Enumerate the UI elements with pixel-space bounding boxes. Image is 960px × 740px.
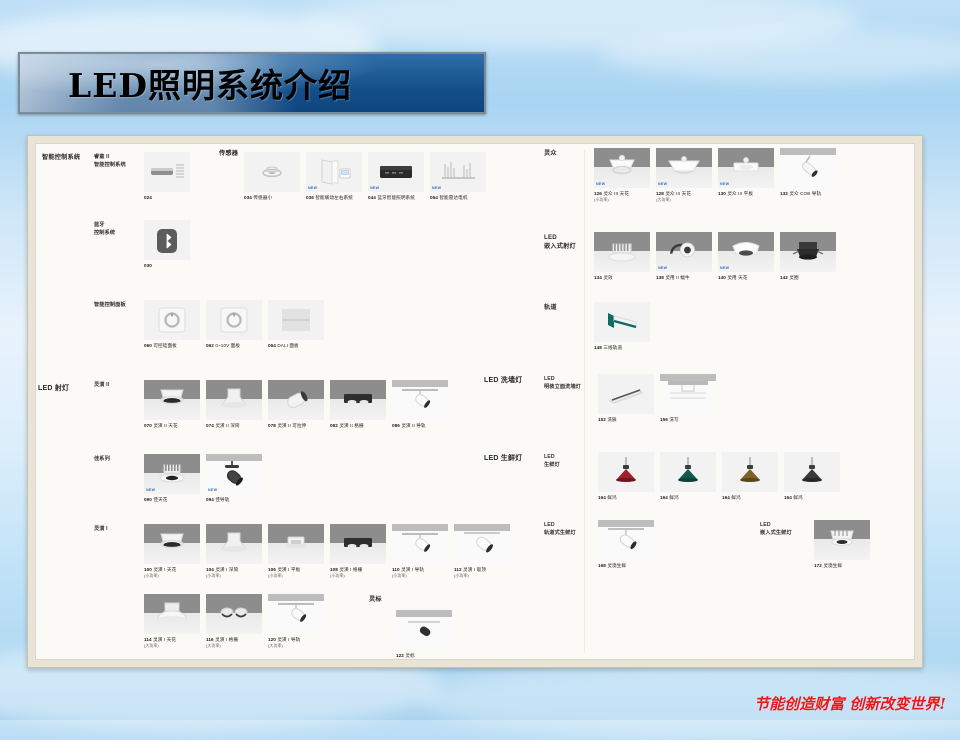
catalog-item-sublabel: (小功率)	[454, 573, 469, 578]
catalog-item-name: 鲜鸿	[669, 495, 678, 500]
catalog-item-name: 蓝牙智能照明系统	[377, 195, 415, 200]
catalog-item-caption: 164 鲜鸿	[722, 495, 778, 502]
catalog-item-caption: 148 三线轨道	[594, 345, 650, 352]
catalog-item-caption: 074 灵潢 II 深筒	[206, 423, 262, 430]
adjustable-spot-icon	[268, 380, 324, 420]
catalog-item-sublabel: (小功率)	[268, 573, 283, 578]
catalog-item-name: 鲜鸿	[793, 495, 802, 500]
catalog-item-sublabel: (大功率)	[144, 643, 159, 648]
deep-recessed-icon	[206, 524, 262, 564]
catalog-item: 134 灵效	[594, 232, 650, 281]
catalog-item-caption: 164 鲜鸿	[660, 495, 716, 502]
catalog-item-number: 156	[660, 417, 668, 422]
catalog-row: 152 洗辰156 洗写	[598, 374, 722, 423]
catalog-item-name: 灵潢 II 可拉伸	[277, 423, 306, 428]
group-title: LED 生鲜灯	[544, 454, 596, 469]
catalog-item-name: 灵潢 I 导轨	[401, 567, 424, 572]
catalog-item-caption: 126 灵众 III 天花(小功率)	[594, 191, 650, 205]
catalog-item-number: 134	[594, 275, 602, 280]
catalog-item: NEW140 灵用 天花	[718, 232, 774, 281]
catalog-item: 152 洗辰	[598, 374, 654, 423]
catalog-item: 120 灵潢 I 导轨(大功率)	[268, 594, 324, 650]
catalog-item-number: 100	[144, 567, 152, 572]
catalog-item-name: 传感器小	[253, 195, 272, 200]
catalog-item-sublabel: (小功率)	[594, 197, 609, 202]
door-sensor-icon: NEW	[306, 152, 362, 192]
catalog-item-name: 灵用 天花	[727, 275, 747, 280]
catalog-item-name: 智能联动左右系统	[315, 195, 353, 200]
catalog-item-caption: 070 灵潢 II 天花	[144, 423, 200, 430]
catalog-item-caption: 142 灵圈	[780, 275, 836, 282]
catalog-item: 156 洗写	[660, 374, 716, 423]
catalog-item-number: 126	[594, 191, 602, 196]
catalog-item-caption: 060 可控硅面板	[144, 343, 200, 350]
catalog-item-name: 灵潢 II 格栅	[339, 423, 363, 428]
catalog-item: 110 灵潢 I 导轨(小功率)	[392, 524, 448, 580]
catalog-item-caption: 130 灵众 III 平板	[718, 191, 774, 198]
catalog-item-name: 0~10V 面板	[215, 343, 240, 348]
catalog-item-number: 172	[814, 563, 822, 568]
catalog-item-caption: 134 灵效	[594, 275, 650, 282]
catalog-item-name: 灵潢 I 导轨	[277, 637, 300, 642]
catalog-item-number: 116	[206, 637, 214, 642]
catalog-item: 164 鲜鸿	[598, 452, 654, 501]
catalog-item-sublabel: (小功率)	[206, 573, 221, 578]
catalog-item-name: 灵潢 II 深筒	[215, 423, 239, 428]
catalog-item: NEW128 灵众 III 天花(大功率)	[656, 148, 712, 204]
page-title: LED照明系统介绍	[68, 59, 352, 107]
catalog-item-caption: 168 灵澳生鲜	[598, 563, 654, 570]
catalog-item-name: 灵澳生鲜	[823, 563, 842, 568]
catalog-item-number: 112	[454, 567, 462, 572]
cloud-decoration	[300, 0, 860, 50]
catalog-item-number: 110	[392, 567, 400, 572]
catalog-item-name: 佳导轨	[215, 497, 229, 502]
catalog-item-caption: 132 灵众 COB 导轨	[780, 191, 836, 198]
catalog-item-number: 164	[784, 495, 792, 500]
catalog-item-name: 灵众 COB 导轨	[789, 191, 821, 196]
catalog-item-number: 152	[598, 417, 606, 422]
section-title: LED 生鲜灯	[484, 454, 544, 464]
wall-washer-recessed-icon	[660, 374, 716, 414]
catalog-item: 148 三线轨道	[594, 302, 650, 351]
group-title: 灵潢 I	[94, 526, 142, 534]
lingzhong-wide-icon: NEW	[656, 148, 712, 188]
black-recessed-icon	[780, 232, 836, 272]
catalog-item-number: 132	[780, 191, 788, 196]
section-title: LED 洗墙灯	[484, 376, 544, 386]
catalog-item-caption: 030	[144, 263, 190, 270]
catalog-item: 168 灵澳生鲜	[598, 520, 654, 569]
catalog-right-column: 灵众NEW126 灵众 III 天花(小功率)NEW128 灵众 III 天花(…	[536, 144, 915, 659]
ceiling-sensor-icon	[244, 152, 300, 192]
catalog-row-sensors: 034 传感器小NEW036 智能联动左右系统NEW044 蓝牙智能照明系统NE…	[244, 152, 492, 201]
catalog-item-caption: 120 灵潢 I 导轨(大功率)	[268, 637, 324, 651]
wall-washer-linear-icon	[598, 374, 654, 414]
catalog-item-number: 086	[392, 423, 400, 428]
catalog-poster: 智能控制系统睿童 II 智能控制系统024 蓝牙 控制系统030 智能控制面板0…	[35, 143, 915, 660]
catalog-poster-frame: 智能控制系统睿童 II 智能控制系统024 蓝牙 控制系统030 智能控制面板0…	[27, 135, 923, 668]
catalog-row: 148 三线轨道	[594, 302, 656, 351]
catalog-row: 100 灵潢 I 天花(小功率)104 灵潢 I 深筒(小功率)106 灵潢 I…	[144, 524, 516, 580]
catalog-item-caption: 024	[144, 195, 190, 202]
catalog-item-sublabel: (小功率)	[144, 573, 159, 578]
catalog-item-name: 鲜鸿	[731, 495, 740, 500]
white-downlight-icon: NEW	[718, 232, 774, 272]
catalog-item-name: 灵圈	[789, 275, 798, 280]
catalog-item: NEW044 蓝牙智能照明系统	[368, 152, 424, 201]
radar-wave-icon: NEW	[430, 152, 486, 192]
cob-recessed-icon	[594, 232, 650, 272]
catalog-left-column: 智能控制系统睿童 II 智能控制系统024 蓝牙 控制系统030 智能控制面板0…	[36, 144, 536, 659]
lingzhong-flat-icon: NEW	[718, 148, 774, 188]
catalog-item: 106 灵潢 I 平板(小功率)	[268, 524, 324, 580]
controller-box-icon	[144, 152, 190, 192]
catalog-row: 030	[144, 220, 196, 269]
catalog-item-number: 128	[656, 191, 664, 196]
catalog-item-number: 064	[268, 343, 276, 348]
surface-spot-icon	[454, 524, 510, 564]
catalog-item-number: 070	[144, 423, 152, 428]
catalog-item-name: 灵潢 I 格栅	[339, 567, 362, 572]
catalog-item: 142 灵圈	[780, 232, 836, 281]
pendant-gold-icon	[722, 452, 778, 492]
catalog-item-caption: 110 灵潢 I 导轨(小功率)	[392, 567, 448, 581]
catalog-item-number: 114	[144, 637, 152, 642]
section-title-led-spotlight: LED 射灯	[38, 384, 69, 394]
catalog-item-caption: 152 洗辰	[598, 417, 654, 424]
catalog-item: NEW126 灵众 III 天花(小功率)	[594, 148, 650, 204]
track-fresh-icon	[598, 520, 654, 560]
recessed-downlight-icon	[144, 524, 200, 564]
catalog-item: 132 灵众 COB 导轨	[780, 148, 836, 197]
catalog-item-number: 062	[206, 343, 214, 348]
group-title: LED 嵌入式生鲜灯	[760, 522, 812, 537]
catalog-item-name: 洗辰	[607, 417, 616, 422]
catalog-item-caption: 114 灵潢 I 天花(大功率)	[144, 637, 200, 651]
catalog-item-caption: 082 灵潢 II 格栅	[330, 423, 386, 430]
section-title-sensor: 传感器	[219, 150, 238, 159]
catalog-item-name: 灵众 III 平板	[727, 191, 753, 196]
catalog-item-number: 122	[396, 653, 404, 658]
flat-panel-icon	[268, 300, 324, 340]
catalog-item-number: 164	[598, 495, 606, 500]
catalog-item-number: 090	[144, 497, 152, 502]
recessed-wide-icon	[144, 594, 200, 634]
dimmer-knob-panel-icon	[206, 300, 262, 340]
catalog-item-caption: 108 灵潢 I 格栅(小功率)	[330, 567, 386, 581]
catalog-item-caption: 164 鲜鸿	[784, 495, 840, 502]
catalog-row: 172 灵澳生鲜	[814, 520, 876, 569]
catalog-item-caption: 140 灵用 天花	[718, 275, 774, 282]
catalog-item: 114 灵潢 I 天花(大功率)	[144, 594, 200, 650]
catalog-item-number: 082	[330, 423, 338, 428]
catalog-item: NEW054 智能雷达电机	[430, 152, 486, 201]
catalog-item: 104 灵潢 I 深筒(小功率)	[206, 524, 262, 580]
catalog-item-sublabel: (大功率)	[656, 197, 671, 202]
catalog-item: 064 DALI 面板	[268, 300, 324, 349]
double-grille-icon	[206, 594, 262, 634]
catalog-item-caption: 034 传感器小	[244, 195, 300, 202]
catalog-item-name: 灵潢 I 吸顶	[463, 567, 486, 572]
catalog-item-name: 洗写	[669, 417, 678, 422]
catalog-item-sublabel: (大功率)	[206, 643, 221, 648]
catalog-item-number: 054	[430, 195, 438, 200]
catalog-item-number: 074	[206, 423, 214, 428]
catalog-item-caption: 156 洗写	[660, 417, 716, 424]
catalog-item: 074 灵潢 II 深筒	[206, 380, 262, 429]
catalog-item: 030	[144, 220, 190, 269]
catalog-item-number: 168	[598, 563, 606, 568]
catalog-item-name: 灵效	[603, 275, 612, 280]
group-title: 睿童 II 智能控制系统	[94, 154, 142, 169]
cloud-decoration	[600, 30, 960, 80]
catalog-item-sublabel: (小功率)	[330, 573, 345, 578]
track-spot-dark-icon: NEW	[206, 454, 262, 494]
catalog-item-caption: 122 灵标	[396, 653, 452, 660]
new-badge: NEW	[720, 182, 729, 186]
catalog-item: 164 鲜鸿	[784, 452, 840, 501]
catalog-item: NEW090 佳天花	[144, 454, 200, 503]
catalog-item-number: 164	[722, 495, 730, 500]
catalog-item-caption: 064 DALI 面板	[268, 343, 324, 350]
catalog-item-number: 140	[718, 275, 726, 280]
recessed-fresh-icon	[814, 520, 870, 560]
group-title: LED 轨道式生鲜灯	[544, 522, 596, 537]
new-badge: NEW	[596, 182, 605, 186]
new-badge: NEW	[208, 488, 217, 492]
catalog-item-number: 130	[718, 191, 726, 196]
catalog-item-name: 可控硅面板	[153, 343, 176, 348]
catalog-item-number: 078	[268, 423, 276, 428]
track-spot-icon	[268, 594, 324, 634]
catalog-item-caption: 128 灵众 III 天花(大功率)	[656, 191, 712, 205]
catalog-item: 112 灵潢 I 吸顶(小功率)	[454, 524, 510, 580]
catalog-item-name: 灵澳生鲜	[607, 563, 626, 568]
catalog-item: 062 0~10V 面板	[206, 300, 262, 349]
catalog-item: 024	[144, 152, 190, 201]
group-title: 佳系列	[94, 456, 142, 464]
track-spot-icon	[392, 380, 448, 420]
pendant-green-icon	[660, 452, 716, 492]
catalog-item-number: 030	[144, 263, 152, 268]
pendant-red-icon	[598, 452, 654, 492]
catalog-item-caption: 106 灵潢 I 平板(小功率)	[268, 567, 324, 581]
catalog-item: 086 灵潢 II 导轨	[392, 380, 448, 429]
black-gateway-icon: NEW	[368, 152, 424, 192]
catalog-item-caption: 090 佳天花	[144, 497, 200, 504]
catalog-item-caption: 164 鲜鸿	[598, 495, 654, 502]
new-badge: NEW	[308, 186, 317, 190]
catalog-item-number: 034	[244, 195, 252, 200]
catalog-item-number: 104	[206, 567, 214, 572]
catalog-item-number: 148	[594, 345, 602, 350]
catalog-item-number: 164	[660, 495, 668, 500]
new-badge: NEW	[658, 182, 667, 186]
catalog-item-name: 智能雷达电机	[439, 195, 467, 200]
catalog-item-name: 灵潢 I 格栅	[215, 637, 238, 642]
catalog-item-caption: 112 灵潢 I 吸顶(小功率)	[454, 567, 510, 581]
catalog-item: 164 鲜鸿	[660, 452, 716, 501]
section-title-smart-control: 智能控制系统	[42, 154, 80, 163]
group-title: 蓝牙 控制系统	[94, 222, 142, 237]
track-spot-icon	[392, 524, 448, 564]
catalog-item: 122 灵标	[396, 610, 452, 659]
catalog-item: 034 传感器小	[244, 152, 300, 201]
catalog-item-number: 024	[144, 195, 152, 200]
flat-downlight-icon	[268, 524, 324, 564]
group-title: LED 明装立面洗墙灯	[544, 376, 596, 391]
recessed-downlight-icon	[144, 380, 200, 420]
catalog-item-caption: 054 智能雷达电机	[430, 195, 486, 202]
catalog-item-number: 108	[330, 567, 338, 572]
catalog-item-caption: 044 蓝牙智能照明系统	[368, 195, 424, 202]
catalog-item-number: 036	[306, 195, 314, 200]
new-badge: NEW	[370, 186, 379, 190]
catalog-item: 164 鲜鸿	[722, 452, 778, 501]
catalog-item-sublabel: (大功率)	[268, 643, 283, 648]
track-rail-icon	[594, 302, 650, 342]
catalog-item: 100 灵潢 I 天花(小功率)	[144, 524, 200, 580]
catalog-item-number: 120	[268, 637, 276, 642]
catalog-item-name: 灵众 III 天花	[603, 191, 629, 196]
catalog-row: 122 灵标	[396, 610, 458, 659]
deep-recessed-icon	[206, 380, 262, 420]
catalog-row: NEW090 佳天花NEW094 佳导轨	[144, 454, 268, 503]
new-badge: NEW	[146, 488, 155, 492]
catalog-item-caption: 094 佳导轨	[206, 497, 262, 504]
gimbal-spot-icon: NEW	[656, 232, 712, 272]
catalog-item-caption: 036 智能联动左右系统	[306, 195, 362, 202]
catalog-item-name: 灵标	[405, 653, 414, 658]
slide-title-banner: LED照明系统介绍	[18, 52, 486, 114]
catalog-item-name: 灵用 II 幅牛	[665, 275, 689, 280]
catalog-item-name: 三线轨道	[603, 345, 622, 350]
new-badge: NEW	[432, 186, 441, 190]
dimmer-knob-panel-icon	[144, 300, 200, 340]
catalog-row: NEW126 灵众 III 天花(小功率)NEW128 灵众 III 天花(大功…	[594, 148, 842, 204]
catalog-item-caption: 078 灵潢 II 可拉伸	[268, 423, 324, 430]
catalog-item: 070 灵潢 II 天花	[144, 380, 200, 429]
cob-track-icon	[780, 148, 836, 188]
catalog-item-caption: 104 灵潢 I 深筒(小功率)	[206, 567, 262, 581]
catalog-item: 108 灵潢 I 格栅(小功率)	[330, 524, 386, 580]
catalog-item-number: 094	[206, 497, 214, 502]
catalog-item-name: 鲜鸿	[607, 495, 616, 500]
new-badge: NEW	[658, 266, 667, 270]
catalog-item-name: 灵众 III 天花	[665, 191, 691, 196]
catalog-item-caption: 172 灵澳生鲜	[814, 563, 870, 570]
catalog-item: 082 灵潢 II 格栅	[330, 380, 386, 429]
new-badge: NEW	[720, 266, 729, 270]
catalog-row: 070 灵潢 II 天花074 灵潢 II 深筒078 灵潢 II 可拉伸082…	[144, 380, 454, 429]
catalog-item-name: 灵潢 I 天花	[153, 637, 176, 642]
catalog-row: 168 灵澳生鲜	[598, 520, 660, 569]
catalog-item-sublabel: (小功率)	[392, 573, 407, 578]
catalog-item-number: 044	[368, 195, 376, 200]
catalog-item-name: 灵潢 I 天花	[153, 567, 176, 572]
catalog-row: 134 灵效NEW138 灵用 II 幅牛NEW140 灵用 天花142 灵圈	[594, 232, 842, 281]
group-title: 灵潢 II	[94, 382, 142, 390]
lingzhong-downlight-icon: NEW	[594, 148, 650, 188]
catalog-row: 024	[144, 152, 196, 201]
catalog-item-caption: 116 灵潢 I 格栅(大功率)	[206, 637, 262, 651]
catalog-row: 164 鲜鸿164 鲜鸿164 鲜鸿164 鲜鸿	[598, 452, 846, 501]
catalog-item: 116 灵潢 I 格栅(大功率)	[206, 594, 262, 650]
catalog-item-caption: 062 0~10V 面板	[206, 343, 262, 350]
group-title: 智能控制面板	[94, 302, 142, 310]
catalog-item-caption: 138 灵用 II 幅牛	[656, 275, 712, 282]
catalog-item-name: 灵潢 I 平板	[277, 567, 300, 572]
footer-slogan: 节能创造财富 创新改变世界!	[754, 693, 946, 714]
catalog-item-number: 138	[656, 275, 664, 280]
catalog-row: 060 可控硅面板062 0~10V 面板064 DALI 面板	[144, 300, 330, 349]
bluetooth-module-icon	[144, 220, 190, 260]
pendant-black-icon	[784, 452, 840, 492]
catalog-item: NEW036 智能联动左右系统	[306, 152, 362, 201]
catalog-row: 114 灵潢 I 天花(大功率)116 灵潢 I 格栅(大功率)120 灵潢 I…	[144, 594, 330, 650]
catalog-item-name: DALI 面板	[277, 343, 298, 348]
catalog-item: 172 灵澳生鲜	[814, 520, 870, 569]
catalog-item-name: 灵潢 II 导轨	[401, 423, 425, 428]
grille-light-icon	[330, 524, 386, 564]
section-title-lingbiao: 灵标	[369, 596, 382, 605]
catalog-item: NEW130 灵众 III 平板	[718, 148, 774, 197]
catalog-item-caption: 100 灵潢 I 天花(小功率)	[144, 567, 200, 581]
catalog-item: 078 灵潢 II 可拉伸	[268, 380, 324, 429]
catalog-item-name: 佳天花	[153, 497, 167, 502]
catalog-item: 060 可控硅面板	[144, 300, 200, 349]
catalog-item-number: 142	[780, 275, 788, 280]
track-spot-small-icon	[396, 610, 452, 650]
catalog-item-number: 060	[144, 343, 152, 348]
catalog-item-name: 灵潢 II 天花	[153, 423, 177, 428]
catalog-item-name: 灵潢 I 深筒	[215, 567, 238, 572]
catalog-item: NEW138 灵用 II 幅牛	[656, 232, 712, 281]
catalog-item: NEW094 佳导轨	[206, 454, 262, 503]
catalog-item-caption: 086 灵潢 II 导轨	[392, 423, 448, 430]
catalog-item-number: 106	[268, 567, 276, 572]
recessed-cob-icon: NEW	[144, 454, 200, 494]
grille-light-icon	[330, 380, 386, 420]
